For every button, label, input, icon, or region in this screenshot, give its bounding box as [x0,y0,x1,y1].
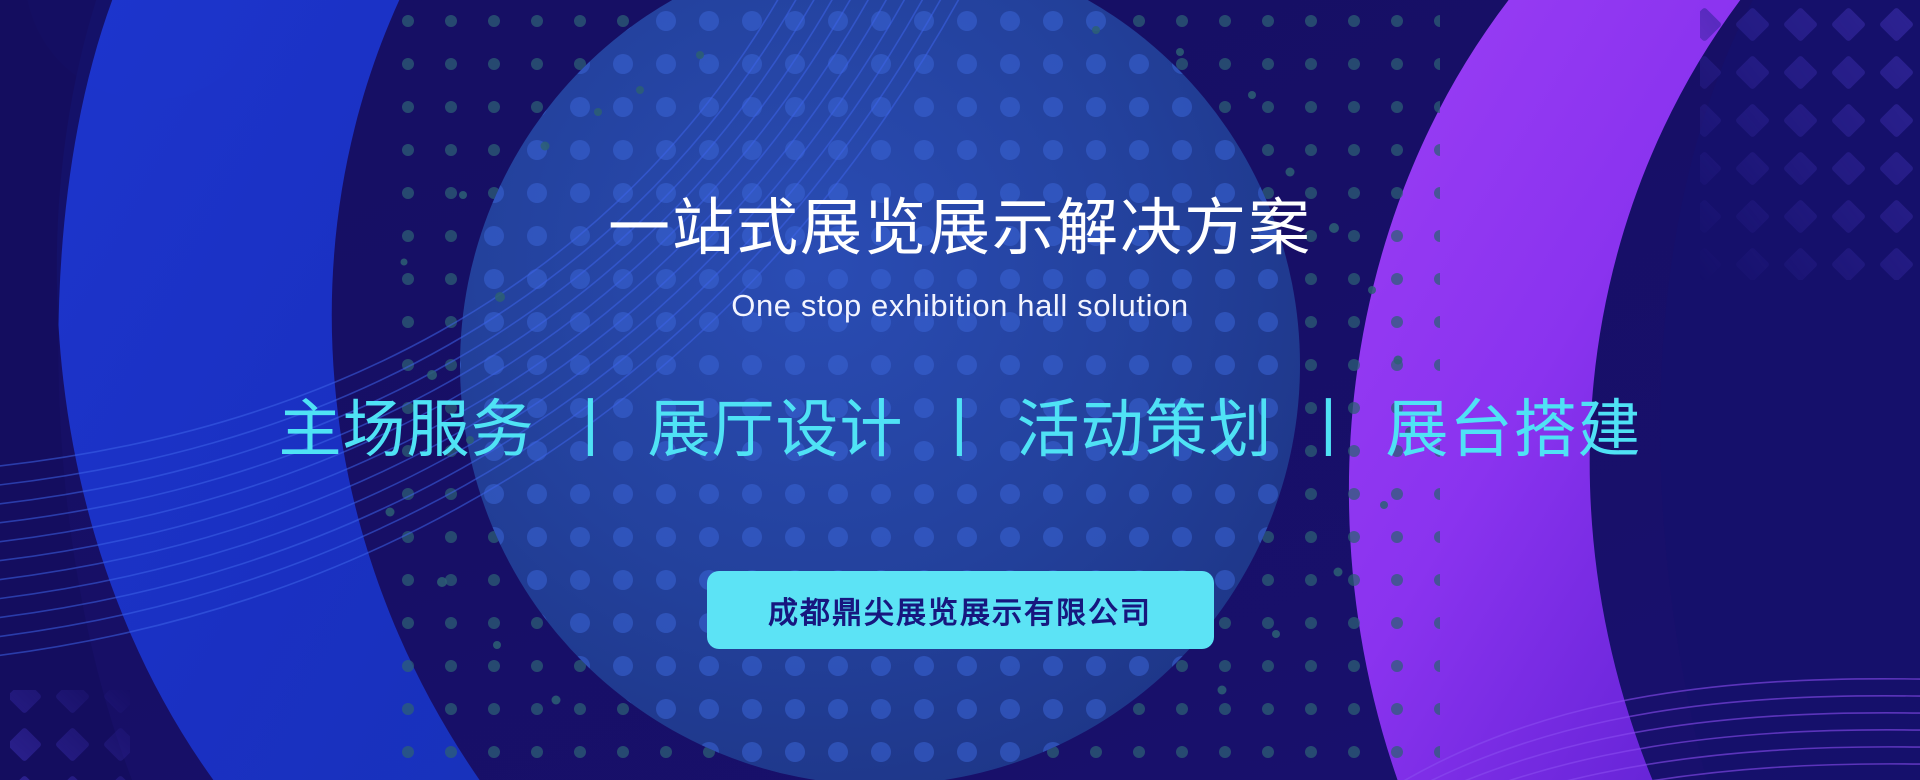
service-item-3: 展台搭建 [1386,395,1642,465]
banner-title-cn: 一站式展览展示解决方案 [0,196,1920,261]
service-separator-2: 丨 [1291,395,1367,465]
service-item-1: 展厅设计 [647,395,903,465]
company-name-button[interactable]: 成都鼎尖展览展示有限公司 [707,571,1214,649]
service-separator-0: 丨 [553,395,629,465]
banner-content: 一站式展览展示解决方案 One stop exhibition hall sol… [0,0,1920,780]
cta-container: 成都鼎尖展览展示有限公司 [0,571,1920,649]
service-item-0: 主场服务 [278,395,534,465]
service-item-2: 活动策划 [1017,395,1273,465]
promo-banner: 一站式展览展示解决方案 One stop exhibition hall sol… [0,0,1920,780]
service-list: 主场服务 丨 展厅设计 丨 活动策划 丨 展台搭建 [0,396,1920,465]
service-separator-1: 丨 [922,395,998,465]
banner-title-en: One stop exhibition hall solution [0,288,1920,324]
